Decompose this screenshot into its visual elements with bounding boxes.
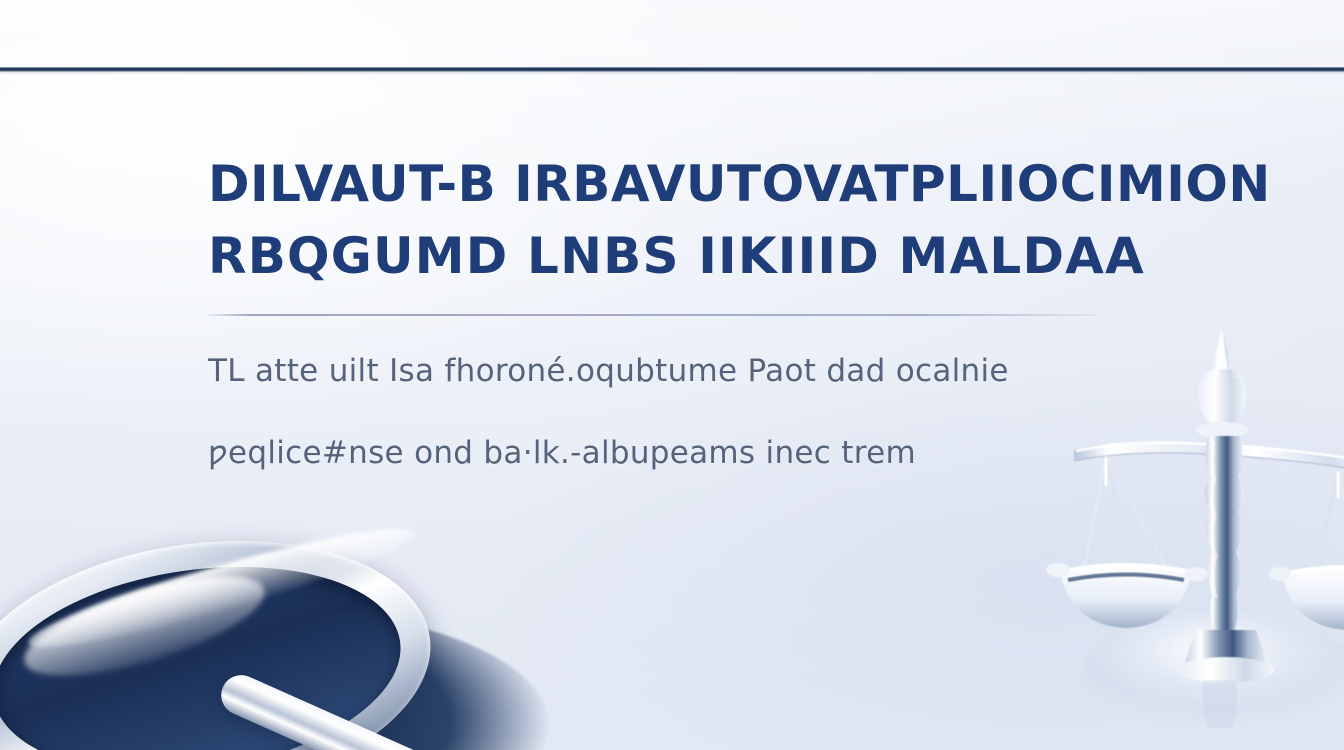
subtitle-line-2: ƿeqlice#nse ond ba·lk.-albupeams inec tr… xyxy=(208,398,1128,480)
page-title-line-1: DILVAUT-B IRBAVUTOVATPLIIOCIMION xyxy=(208,148,1128,220)
magnifier-rim-highlight xyxy=(22,512,419,665)
magnifier-desk-shadow xyxy=(0,606,550,750)
subtitle-line-1: TL atte uilt Isa fhoroné.oqubtume Paot d… xyxy=(208,316,1128,398)
page-title-line-2: RBQGUMD LNBS IIKIIID MALDAA xyxy=(208,220,1128,292)
magnifier-lens xyxy=(0,542,414,750)
magnifier-handle xyxy=(215,669,505,750)
top-accent-rule xyxy=(0,67,1344,72)
magnifier-lens-gloss xyxy=(15,556,275,696)
legal-banner: DILVAUT-B IRBAVUTOVATPLIIOCIMION RBQGUMD… xyxy=(0,0,1344,750)
magnifier-chrome-ring xyxy=(0,513,447,750)
banner-text-block: DILVAUT-B IRBAVUTOVATPLIIOCIMION RBQGUMD… xyxy=(208,148,1128,480)
glass-table-surface xyxy=(1080,612,1344,742)
magnifying-glass-illustration xyxy=(0,520,550,750)
